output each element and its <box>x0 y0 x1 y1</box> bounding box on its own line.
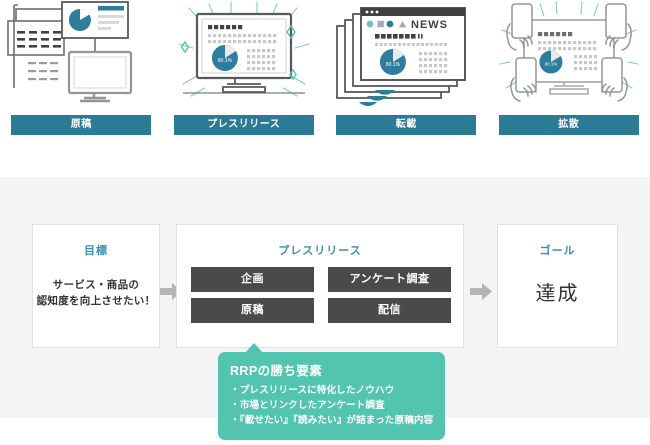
flow-step-kakusan: 80.1% <box>488 0 650 150</box>
task-chip-kikaku[interactable]: 企画 <box>191 267 314 292</box>
callout-bullet-3: ・『載せたい』『読みたい』が詰まった原稿内容 <box>230 413 445 428</box>
process-flow-strip: 原稿 <box>0 0 650 150</box>
goal-result-card: ゴール 達成 <box>497 224 618 348</box>
step-label-kakusan: 拡散 <box>499 115 639 135</box>
task-chip-haishin[interactable]: 配信 <box>328 298 451 323</box>
callout-heading: RRPの勝ち要素 <box>230 360 445 379</box>
goal-result-value: 達成 <box>498 277 617 306</box>
manuscript-documents-monitor-illustration <box>6 0 156 112</box>
callout-bullet-2: ・市場とリンクしたアンケート調査 <box>230 398 445 413</box>
task-chip-survey[interactable]: アンケート調査 <box>328 267 451 292</box>
flow-step-tensai: NEWS <box>325 0 488 150</box>
svg-text:80.1%: 80.1% <box>218 58 233 64</box>
svg-text:80.1%: 80.1% <box>386 62 401 68</box>
goal-card-title: 目標 <box>33 242 159 258</box>
svg-text:NEWS: NEWS <box>411 19 448 31</box>
monitor-with-sparkles-illustration: 80.1% <box>169 0 319 112</box>
press-release-card: プレスリリース 企画 アンケート調査 原稿 配信 <box>176 224 464 348</box>
flow-step-press-release: 80.1% <box>163 0 326 150</box>
step-label-genko: 原稿 <box>11 115 151 135</box>
goal-card: 目標 サービス・商品の 認知度を向上させたい！ <box>32 224 160 348</box>
arrow-right-icon <box>470 283 492 300</box>
press-release-task-grid: 企画 アンケート調査 原稿 配信 <box>191 267 451 323</box>
task-chip-genko[interactable]: 原稿 <box>191 298 314 323</box>
goal-card-line2: 認知度を向上させたい！ <box>33 293 159 309</box>
goal-card-line1: サービス・商品の <box>33 277 159 293</box>
rrp-advantages-callout: RRPの勝ち要素 ・プレスリリースに特化したノウハウ ・市場とリンクしたアンケー… <box>218 352 445 440</box>
goal-result-card-body: 達成 <box>498 277 617 306</box>
goal-card-body: サービス・商品の 認知度を向上させたい！ <box>33 277 159 309</box>
callout-bullet-1: ・プレスリリースに特化したノウハウ <box>230 383 445 398</box>
svg-text:80.1%: 80.1% <box>545 62 558 67</box>
goal-result-card-title: ゴール <box>498 242 617 258</box>
flow-step-genko: 原稿 <box>0 0 163 150</box>
step-label-press-release: プレスリリース <box>174 115 314 135</box>
step-label-tensai: 転載 <box>336 115 476 135</box>
stacked-news-windows-illustration: NEWS <box>331 0 481 112</box>
smartphones-around-monitor-illustration: 80.1% <box>494 0 644 112</box>
press-release-card-title: プレスリリース <box>177 242 463 258</box>
